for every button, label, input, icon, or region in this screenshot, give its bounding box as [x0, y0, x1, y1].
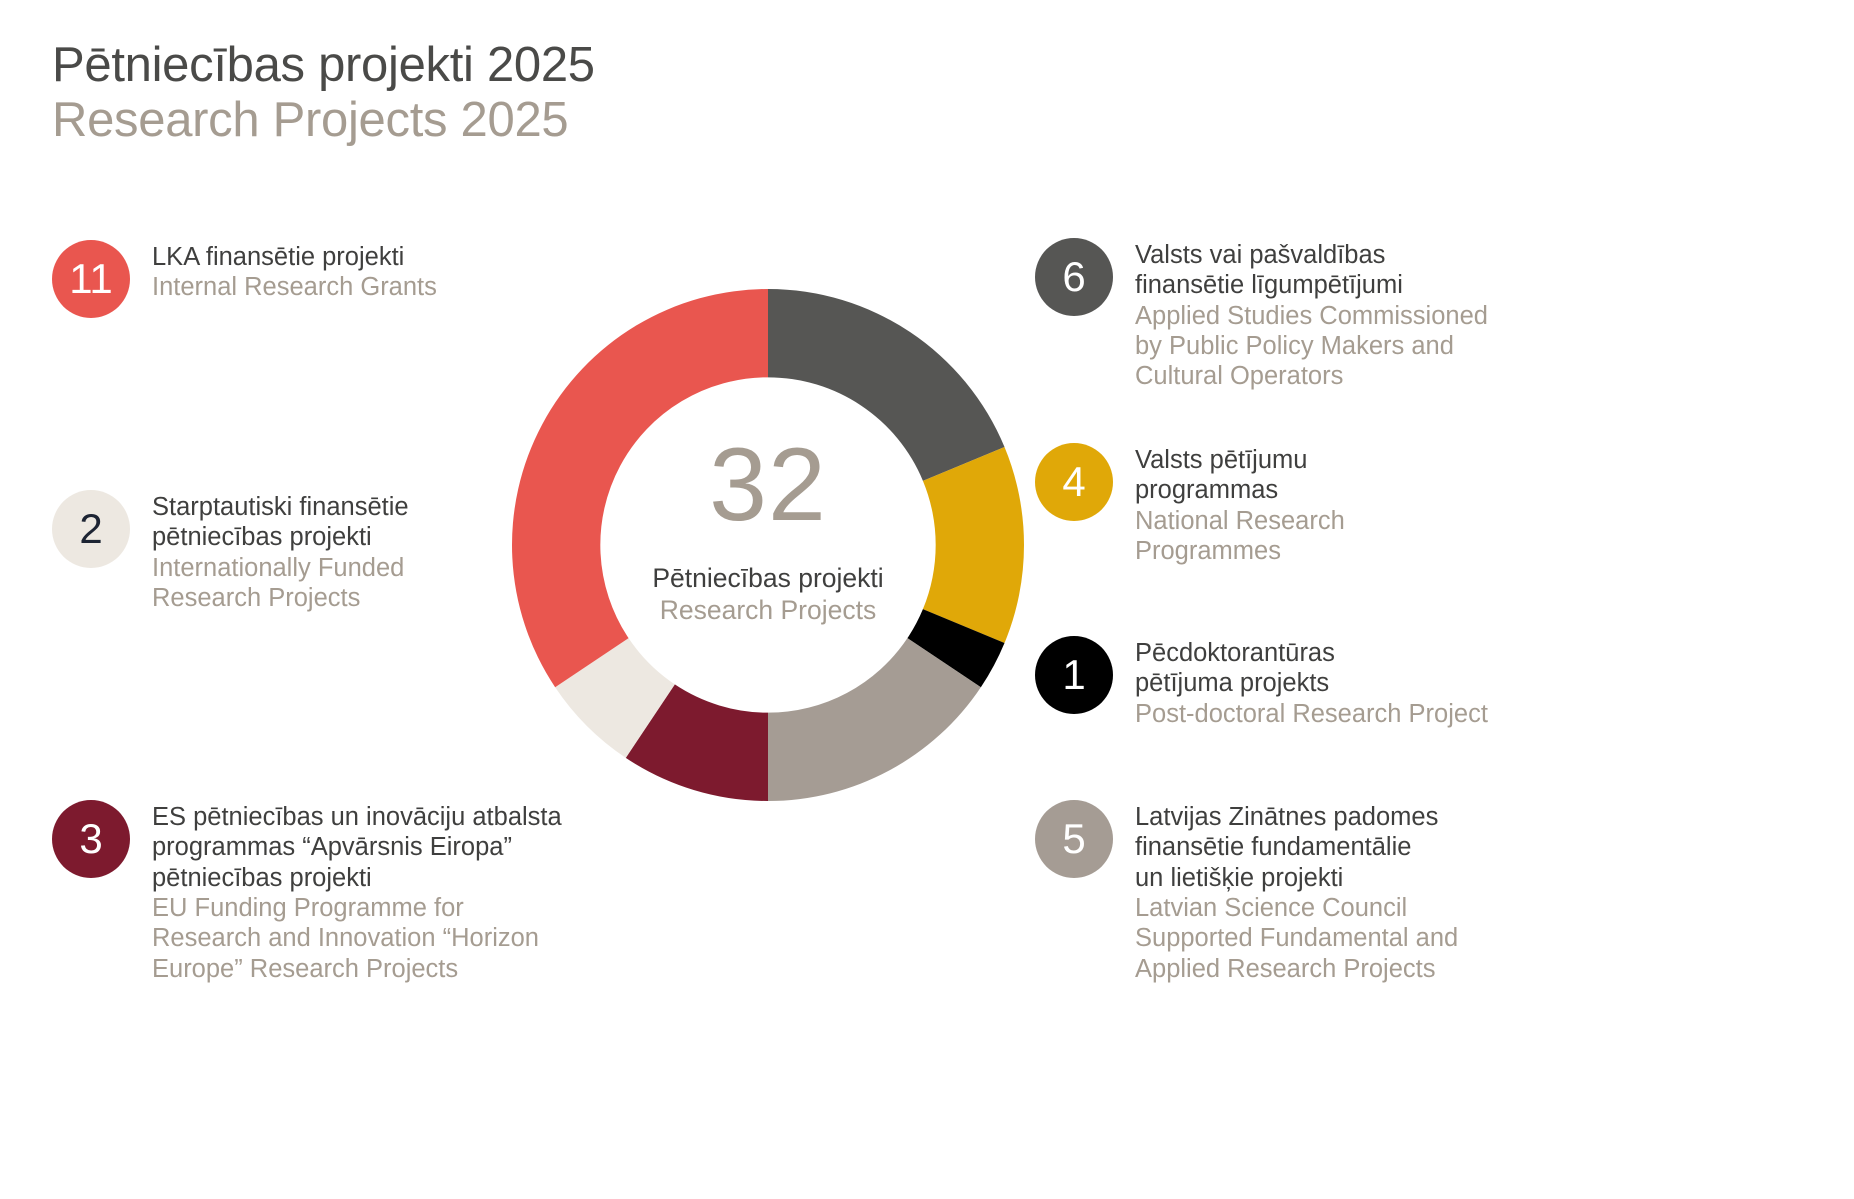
- legend-item-eu-horizon-europe-research-projects[interactable]: 3 ES pētniecības un inovāciju atbalsta p…: [52, 800, 562, 984]
- legend-item-applied-studies-commissioned[interactable]: 6 Valsts vai pašvaldības finansētie līgu…: [1035, 238, 1488, 392]
- donut-center-total: 32: [508, 433, 1028, 537]
- legend-item-internal-research-grants[interactable]: 11 LKA finansētie projekti Internal Rese…: [52, 240, 437, 318]
- legend-item-internationally-funded-research-projects[interactable]: 2 Starptautiski finansētie pētniecības p…: [52, 490, 409, 613]
- page-title-latvian: Pētniecības projekti 2025: [52, 38, 595, 93]
- legend-badge-count: 4: [1035, 443, 1113, 521]
- legend-badge-count: 3: [52, 800, 130, 878]
- donut-chart-svg: Valsts vai pašvaldības finansētie līgump…: [508, 285, 1028, 805]
- legend-text-block: Valsts pētījumu programmas National Rese…: [1135, 443, 1345, 566]
- legend-label-english: EU Funding Programme for Research and In…: [152, 893, 562, 984]
- legend-label-latvian: Valsts vai pašvaldības finansētie līgump…: [1135, 240, 1488, 301]
- page-title-english: Research Projects 2025: [52, 93, 595, 148]
- legend-text-block: Valsts vai pašvaldības finansētie līgump…: [1135, 238, 1488, 392]
- legend-badge-count: 6: [1035, 238, 1113, 316]
- legend-label-english: National Research Programmes: [1135, 506, 1345, 567]
- legend-text-block: LKA finansētie projekti Internal Researc…: [152, 240, 437, 303]
- legend-label-latvian: LKA finansētie projekti: [152, 242, 437, 272]
- legend-label-english: Internationally Funded Research Projects: [152, 553, 409, 614]
- legend-label-english: Latvian Science Council Supported Fundam…: [1135, 893, 1458, 984]
- legend-badge-count: 1: [1035, 636, 1113, 714]
- donut-chart: Valsts vai pašvaldības finansētie līgump…: [508, 285, 1028, 805]
- infographic-root: Pētniecības projekti 2025 Research Proje…: [0, 0, 1854, 1199]
- legend-label-latvian: Valsts pētījumu programmas: [1135, 445, 1345, 506]
- legend-label-latvian: Latvijas Zinātnes padomes finansētie fun…: [1135, 802, 1458, 893]
- donut-center-caption-english: Research Projects: [508, 595, 1028, 627]
- donut-slice-group: Valsts vai pašvaldības finansētie līgump…: [512, 289, 1024, 801]
- legend-text-block: ES pētniecības un inovāciju atbalsta pro…: [152, 800, 562, 984]
- legend-item-post-doctoral-research-project[interactable]: 1 Pēcdoktorantūras pētījuma projekts Pos…: [1035, 636, 1488, 729]
- legend-label-english: Internal Research Grants: [152, 272, 437, 302]
- legend-text-block: Latvijas Zinātnes padomes finansētie fun…: [1135, 800, 1458, 984]
- legend-label-latvian: Starptautiski finansētie pētniecības pro…: [152, 492, 409, 553]
- page-title: Pētniecības projekti 2025 Research Proje…: [52, 38, 595, 148]
- legend-badge-count: 2: [52, 490, 130, 568]
- legend-label-english: Post-doctoral Research Project: [1135, 699, 1488, 729]
- legend-label-english: Applied Studies Commissioned by Public P…: [1135, 301, 1488, 392]
- legend-item-national-research-programmes[interactable]: 4 Valsts pētījumu programmas National Re…: [1035, 443, 1345, 566]
- legend-label-latvian: Pēcdoktorantūras pētījuma projekts: [1135, 638, 1488, 699]
- legend-text-block: Starptautiski finansētie pētniecības pro…: [152, 490, 409, 613]
- legend-text-block: Pēcdoktorantūras pētījuma projekts Post-…: [1135, 636, 1488, 729]
- legend-item-latvian-science-council-projects[interactable]: 5 Latvijas Zinātnes padomes finansētie f…: [1035, 800, 1458, 984]
- legend-badge-count: 11: [52, 240, 130, 318]
- legend-badge-count: 5: [1035, 800, 1113, 878]
- legend-label-latvian: ES pētniecības un inovāciju atbalsta pro…: [152, 802, 562, 893]
- donut-center-caption-latvian: Pētniecības projekti: [508, 563, 1028, 595]
